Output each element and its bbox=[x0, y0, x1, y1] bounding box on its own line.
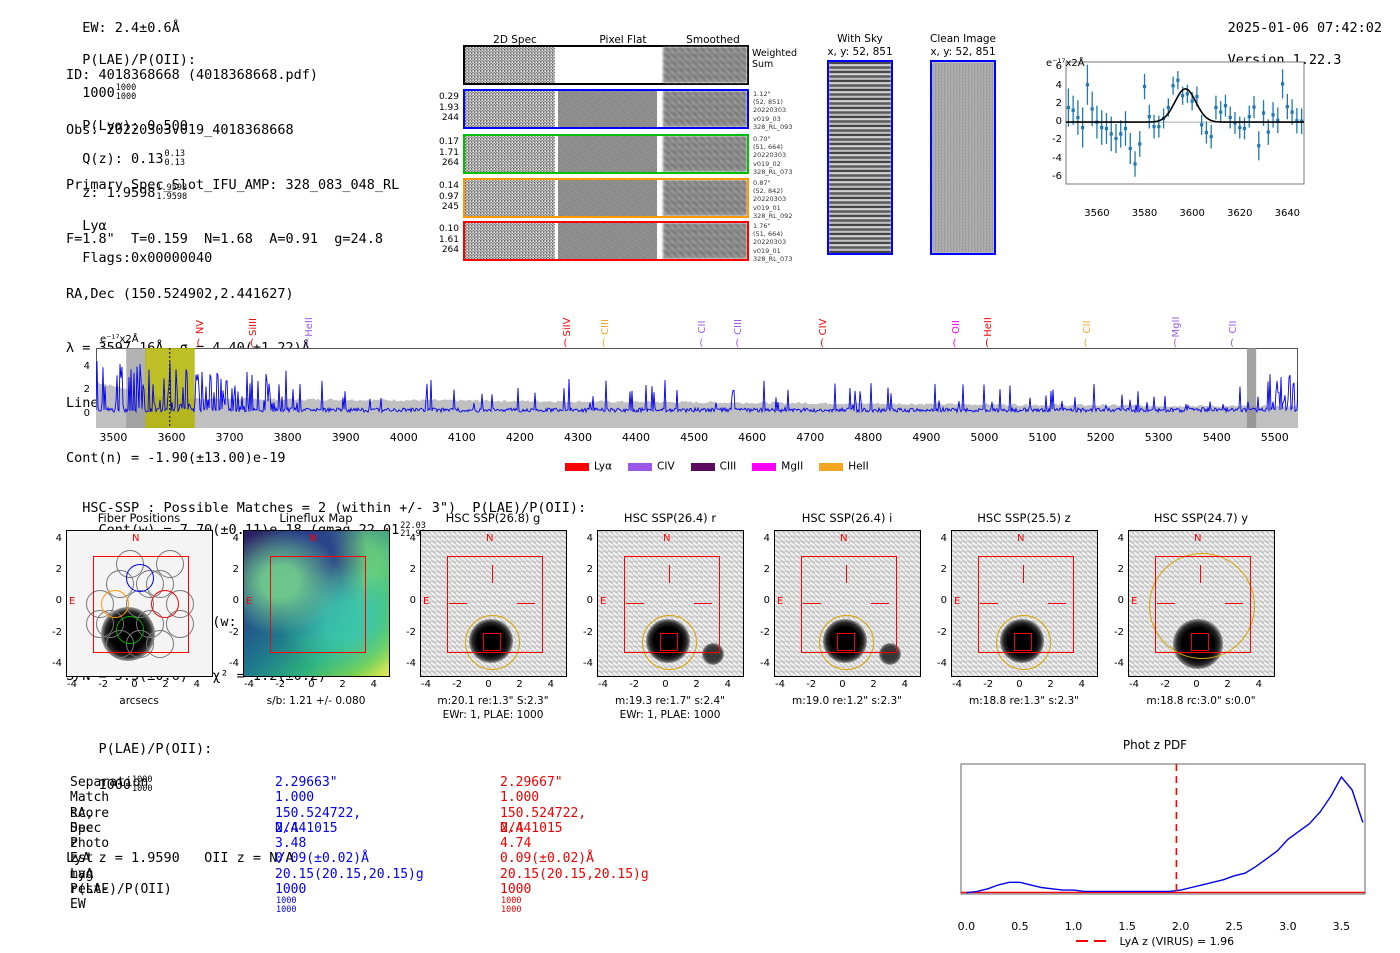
spectrum-xtick: 3900 bbox=[320, 431, 372, 444]
spectrum-line-bracket-icon: ( bbox=[953, 338, 957, 349]
spectrum-line-bracket-icon: ( bbox=[564, 338, 568, 349]
legend-label: MgII bbox=[781, 461, 803, 473]
spectrum-xtick: 4700 bbox=[784, 431, 836, 444]
spectrum-xtick: 3700 bbox=[204, 431, 256, 444]
cutout-xtick: 4 bbox=[533, 679, 569, 690]
cutout-ytick: -2 bbox=[1102, 627, 1124, 638]
crosshair-vertical bbox=[669, 565, 670, 583]
cutout-ytick: -4 bbox=[40, 658, 62, 669]
cutout-ytick: 2 bbox=[748, 564, 770, 575]
line-fit-y-axis: -6-4-20246 bbox=[1040, 56, 1070, 206]
cutout-title-3: HSC SSP(26.4) r bbox=[575, 511, 765, 525]
cutout-ytick: -4 bbox=[1102, 658, 1124, 669]
cutout-ytick: 4 bbox=[1102, 533, 1124, 544]
spectrum-line-bracket-icon: ( bbox=[820, 338, 824, 349]
spectrum-line-label-CIV: CIV bbox=[802, 303, 846, 351]
cutout-subtitle-2-1: EWr: 1, PLAE: 1000 bbox=[398, 709, 588, 721]
crosshair-horizontal bbox=[449, 603, 467, 604]
fiber-strip-meta-1: (51, 664) bbox=[753, 230, 792, 238]
line-fit-xtick: 3560 bbox=[1077, 208, 1117, 219]
with-sky-image bbox=[827, 60, 893, 255]
spectrum-xtick: 4000 bbox=[378, 431, 430, 444]
fiber-strip-meta: 1.76"(51, 664)20220303v019_01328_RL_073 bbox=[753, 222, 792, 263]
table-cell-match2: 100010001000 bbox=[500, 882, 531, 915]
table-cell-match1: 1.000 bbox=[275, 790, 314, 805]
spectrum-xtick: 4200 bbox=[494, 431, 546, 444]
cutout-ytick: 2 bbox=[925, 564, 947, 575]
fov-box bbox=[93, 556, 189, 653]
fiber-strip-meta-0: 1.12" bbox=[753, 90, 792, 98]
cutout-ytick: 4 bbox=[748, 533, 770, 544]
spectrum-xtick: 5500 bbox=[1249, 431, 1301, 444]
crosshair-horizontal bbox=[1225, 603, 1243, 604]
spectrum-xtick: 5200 bbox=[1075, 431, 1127, 444]
crosshair-vertical bbox=[1200, 565, 1201, 583]
table-row-label: P(LAE)/P(OII) bbox=[70, 882, 172, 897]
fiber-strip-stat-2: 264 bbox=[425, 245, 459, 256]
spectrum-xtick: 4300 bbox=[552, 431, 604, 444]
emission-line-fit-svg bbox=[1040, 56, 1308, 206]
line-fit-xtick: 3620 bbox=[1220, 208, 1260, 219]
cutout-ytick: 0 bbox=[748, 595, 770, 606]
fov-box bbox=[447, 556, 543, 653]
fiber-strip-stats: 0.101.61264 bbox=[425, 224, 459, 256]
info-obs: Obs: 20220303v019_4018368668 bbox=[66, 121, 426, 139]
spectrum-xtick: 4600 bbox=[726, 431, 778, 444]
cutout-image-5[interactable] bbox=[951, 530, 1098, 677]
line-fit-xtick: 3580 bbox=[1125, 208, 1165, 219]
fov-box bbox=[624, 556, 720, 653]
spectrum-line-label-CIII: CIII bbox=[584, 303, 628, 351]
cutout-ytick: -4 bbox=[217, 658, 239, 669]
spectrum-line-bracket-icon: ( bbox=[985, 338, 989, 349]
spectrum-line-bracket-icon: ( bbox=[1084, 338, 1088, 349]
phot-z-pdf-svg bbox=[935, 756, 1375, 916]
info-params: F=1.8" T=0.159 N=1.68 A=0.91 g=24.8 bbox=[66, 230, 426, 248]
cutout-image-2[interactable] bbox=[420, 530, 567, 677]
spectrum-line-markers: NV(SiIII(HeII(SiIV(CIII(CII(CIII(CIV(OII… bbox=[96, 305, 1298, 349]
info-id: ID: 4018368668 (4018368668.pdf) bbox=[66, 66, 426, 84]
emission-line-fit-plot bbox=[1040, 56, 1308, 206]
table-cell-match2: 1.000 bbox=[500, 790, 539, 805]
legend-swatch-icon bbox=[691, 463, 715, 471]
cutout-ytick: 2 bbox=[217, 564, 239, 575]
cutout-xtick: 4 bbox=[1064, 679, 1100, 690]
header-timestamp: 2025-01-06 07:42:02 bbox=[1228, 20, 1382, 36]
fiber-strip-image bbox=[463, 134, 749, 174]
table-cell-match1: 0.09(±0.02)Å bbox=[275, 851, 369, 866]
crosshair-vertical bbox=[846, 565, 847, 583]
crosshair-horizontal bbox=[871, 603, 889, 604]
cutout-ytick: 0 bbox=[925, 595, 947, 606]
table-cell-match1: 100010001000 bbox=[275, 882, 306, 915]
line-fit-ytick: 0 bbox=[1040, 116, 1062, 127]
clean-image-coords: x, y: 52, 851 bbox=[920, 46, 1006, 59]
cutout-ytick: 4 bbox=[571, 533, 593, 544]
info-plae: P(LAE)/P(OII): 100010001000 bbox=[66, 722, 426, 813]
line-fit-ytick: 6 bbox=[1040, 61, 1062, 72]
cutout-ytick: 0 bbox=[40, 595, 62, 606]
weighted-sum-line1: Weighted bbox=[752, 48, 797, 59]
fiber-strip-meta-1: (52, 842) bbox=[753, 187, 792, 195]
cutout-ytick: 0 bbox=[571, 595, 593, 606]
cutout-ytick: -2 bbox=[40, 627, 62, 638]
legend-swatch-icon bbox=[565, 463, 589, 471]
table-cell-match2: 20.15(20.15,20.15)g bbox=[500, 867, 649, 882]
legend-label: CIV bbox=[657, 461, 675, 473]
cutout-title-1: Lineflux Map bbox=[221, 511, 411, 525]
compass-east-label: E bbox=[600, 596, 606, 607]
spectrum-xtick: 3600 bbox=[145, 431, 197, 444]
legend-item-MgII: MgII bbox=[752, 456, 803, 475]
weighted-sum-strip bbox=[463, 45, 749, 85]
table-cell-match2: 4.74 bbox=[500, 836, 531, 851]
fiber-strip-meta-4: 328_RL_092 bbox=[753, 212, 792, 220]
line-fit-ytick: -6 bbox=[1040, 171, 1062, 182]
cutout-ytick: 4 bbox=[217, 533, 239, 544]
fiber-strip-stats: 0.291.93244 bbox=[425, 92, 459, 124]
cutout-ytick: 2 bbox=[394, 564, 416, 575]
cutout-ytick: -4 bbox=[571, 658, 593, 669]
spectrum-xtick: 5300 bbox=[1133, 431, 1185, 444]
compass-north-label: N bbox=[840, 533, 847, 544]
fiber-strip-stat-0: 0.14 bbox=[425, 181, 459, 192]
fiber-strip-meta-4: 328_RL_093 bbox=[753, 123, 792, 131]
fiber-strip-meta-1: (51, 664) bbox=[753, 143, 792, 151]
cutout-ytick: 0 bbox=[217, 595, 239, 606]
plae-lo: 1000 bbox=[501, 905, 521, 915]
cutout-xtick: 4 bbox=[887, 679, 923, 690]
spectrum-line-bracket-icon: ( bbox=[197, 338, 201, 349]
table-row-label: Separation bbox=[70, 775, 148, 790]
spectrum-line-label-CII: CII bbox=[1212, 303, 1256, 351]
spectrum-x-axis: 3500360037003800390040004100420043004400… bbox=[96, 431, 1298, 447]
cutout-image-3[interactable] bbox=[597, 530, 744, 677]
spectrum-xtick: 5400 bbox=[1191, 431, 1243, 444]
fiber-strip-meta-0: 0.70" bbox=[753, 135, 792, 143]
legend-swatch-icon bbox=[819, 463, 843, 471]
info-redshifts: LyA z = 1.9590 OII z = N/A bbox=[66, 849, 426, 867]
spectrum-xtick: 5100 bbox=[1017, 431, 1069, 444]
line-fit-ytick: -4 bbox=[1040, 153, 1062, 164]
fiber-strip-meta: 0.70"(51, 664)20220303v019_02328_RL_073 bbox=[753, 135, 792, 176]
compass-north-label: N bbox=[663, 533, 670, 544]
table-cell-match2: 0.09(±0.02)Å bbox=[500, 851, 594, 866]
crosshair-vertical bbox=[492, 565, 493, 583]
phot-z-pdf-title: Phot z PDF bbox=[935, 738, 1375, 752]
spectrum-line-label-MgII: MgII bbox=[1155, 303, 1199, 351]
legend-item-Lyα: Lyα bbox=[565, 456, 612, 475]
spectrum-xtick: 4100 bbox=[436, 431, 488, 444]
phot-z-pdf-panel: Phot z PDF 0.00.51.01.52.02.53.03.5 LyA … bbox=[935, 738, 1375, 948]
spectrum-ytick: 0 bbox=[70, 408, 90, 419]
spectrum-xtick: 4400 bbox=[610, 431, 662, 444]
fiber-strip-stat-2: 245 bbox=[425, 202, 459, 213]
fiber-strip-meta-3: v019_02 bbox=[753, 160, 792, 168]
phot-z-legend-dash-icon bbox=[1076, 936, 1110, 946]
cutout-ytick: -4 bbox=[748, 658, 770, 669]
fiber-strip-meta-2: 20220303 bbox=[753, 151, 792, 159]
cutout-subtitle-3-0: m:19.3 re:1.7" s:2.4" bbox=[575, 695, 765, 707]
legend-item-CIII: CIII bbox=[691, 456, 737, 475]
cutout-title-5: HSC SSP(25.5) z bbox=[929, 511, 1119, 525]
detection-info-block: ID: 4018368668 (4018368668.pdf) Obs: 202… bbox=[66, 30, 426, 886]
phot-z-legend: LyA z (VIRUS) = 1.96 bbox=[935, 930, 1375, 949]
full-spectrum-plot bbox=[96, 348, 1298, 428]
spectrum-line-label-CIII: CIII bbox=[717, 303, 761, 351]
cutout-ytick: -2 bbox=[571, 627, 593, 638]
crosshair-horizontal bbox=[980, 603, 998, 604]
spectrum-y-axis: 024 bbox=[70, 348, 94, 428]
compass-east-label: E bbox=[777, 596, 783, 607]
fiber-strip-meta-3: v019_01 bbox=[753, 247, 792, 255]
legend-item-HeII: HeII bbox=[819, 456, 869, 475]
crosshair-vertical bbox=[1023, 565, 1024, 583]
weighted-sum-label: Weighted Sum bbox=[752, 48, 797, 70]
fov-box bbox=[978, 556, 1074, 653]
cutout-subtitle-1-0: s/b: 1.21 +/- 0.080 bbox=[221, 695, 411, 707]
crosshair-horizontal bbox=[694, 603, 712, 604]
cutout-subtitle-3-1: EWr: 1, PLAE: 1000 bbox=[575, 709, 765, 721]
spectrum-xtick: 3800 bbox=[262, 431, 314, 444]
spectrum-line-label-HeII: HeII bbox=[967, 303, 1011, 351]
fiber-strip-meta-3: v019_01 bbox=[753, 204, 792, 212]
cutout-image-0[interactable] bbox=[66, 530, 213, 677]
spectrum-xtick: 4500 bbox=[668, 431, 720, 444]
legend-label: HeII bbox=[848, 461, 869, 473]
compass-north-label: N bbox=[309, 533, 316, 544]
fov-box bbox=[1155, 556, 1251, 653]
legend-label: CIII bbox=[720, 461, 737, 473]
cutout-subtitle-5-0: m:18.8 re:1.3" s:2.3" bbox=[929, 695, 1119, 707]
line-fit-xtick: 3600 bbox=[1172, 208, 1212, 219]
crosshair-horizontal bbox=[626, 603, 644, 604]
table-cell-match1: 2.29663" bbox=[275, 775, 338, 790]
line-fit-ytick: -2 bbox=[1040, 134, 1062, 145]
table-cell-match2: N/A bbox=[500, 821, 523, 836]
cutout-ytick: 2 bbox=[571, 564, 593, 575]
info-plae-label: P(LAE)/P(OII): bbox=[99, 741, 213, 757]
cutout-subtitle-2-0: m:20.1 re:1.3" S:2.3" bbox=[398, 695, 588, 707]
cutout-xtick: 4 bbox=[1241, 679, 1277, 690]
spectrum-xtick: 5000 bbox=[958, 431, 1010, 444]
fov-box bbox=[270, 556, 366, 653]
legend-item-CIV: CIV bbox=[628, 456, 675, 475]
fiber-strip-meta-2: 20220303 bbox=[753, 238, 792, 246]
plae-lo: 1000 bbox=[276, 905, 296, 915]
phot-z-legend-label: LyA z (VIRUS) = 1.96 bbox=[1119, 935, 1234, 948]
fiber-strip-stats: 0.171.71264 bbox=[425, 137, 459, 169]
fiber-strip-meta-4: 328_RL_073 bbox=[753, 168, 792, 176]
spectrum-line-label-NV: NV bbox=[179, 303, 223, 351]
fiber-strip-stat-2: 244 bbox=[425, 113, 459, 124]
compass-east-label: E bbox=[954, 596, 960, 607]
table-cell-match1: 3.48 bbox=[275, 836, 306, 851]
spectrum-line-label-SiIII: SiIII bbox=[232, 303, 276, 351]
cutout-ytick: -2 bbox=[394, 627, 416, 638]
legend-swatch-icon bbox=[752, 463, 776, 471]
spectrum-xtick: 4800 bbox=[842, 431, 894, 444]
table-cell-match1: 20.15(20.15,20.15)g bbox=[275, 867, 424, 882]
table-row-label: mag bbox=[70, 867, 93, 882]
cutout-xtick: 4 bbox=[179, 679, 215, 690]
crosshair-horizontal bbox=[1157, 603, 1175, 604]
line-fit-ytick: 4 bbox=[1040, 80, 1062, 91]
cutout-xtick: 4 bbox=[356, 679, 392, 690]
fiber-strip-stat-0: 0.10 bbox=[425, 224, 459, 235]
compass-north-label: N bbox=[132, 533, 139, 544]
clean-image-title: Clean Image x, y: 52, 851 bbox=[920, 33, 1006, 58]
cutout-subtitle-6-0: m:18.8 rc:3.0" s:0.0" bbox=[1106, 695, 1296, 707]
fiber-strip-stat-0: 0.29 bbox=[425, 92, 459, 103]
fiber-strip-meta-3: v019_03 bbox=[753, 115, 792, 123]
compass-east-label: E bbox=[69, 596, 75, 607]
spectrum-ytick: 2 bbox=[70, 384, 90, 395]
full-spectrum-svg bbox=[96, 348, 1298, 428]
compass-north-label: N bbox=[486, 533, 493, 544]
legend-swatch-icon bbox=[628, 463, 652, 471]
weighted-sum-line2: Sum bbox=[752, 59, 797, 70]
spectrum-line-bracket-icon: ( bbox=[1173, 338, 1177, 349]
info-radec: RA,Dec (150.524902,2.441627) bbox=[66, 285, 426, 303]
clean-image-title-text: Clean Image bbox=[920, 33, 1006, 46]
info-primary-spec: Primary Spec_Slot_IFU_AMP: 328_083_048_R… bbox=[66, 176, 426, 194]
fiber-strip-meta-4: 328_RL_073 bbox=[753, 255, 792, 263]
line-fit-xtick: 3640 bbox=[1267, 208, 1307, 219]
compass-north-label: N bbox=[1194, 533, 1201, 544]
compass-east-label: E bbox=[246, 596, 252, 607]
fiber-strip-meta: 0.87"(52, 842)20220303v019_01328_RL_092 bbox=[753, 179, 792, 220]
line-fit-x-axis: 35603580360036203640 bbox=[1040, 208, 1308, 224]
cutout-ytick: -2 bbox=[748, 627, 770, 638]
fiber-strip-meta-0: 1.76" bbox=[753, 222, 792, 230]
info-cont-n: Cont(n) = -1.90(±13.00)e-19 bbox=[66, 449, 426, 467]
fiber-strip-stat-1: 1.71 bbox=[425, 148, 459, 159]
cutout-image-6[interactable] bbox=[1128, 530, 1275, 677]
cutout-ytick: -2 bbox=[925, 627, 947, 638]
fiber-strip-stat-0: 0.17 bbox=[425, 137, 459, 148]
spectrum-line-label-SiIV: SiIV bbox=[546, 303, 590, 351]
cutout-image-1[interactable] bbox=[243, 530, 390, 677]
compass-east-label: E bbox=[1131, 596, 1137, 607]
spectrum-line-bracket-icon: ( bbox=[735, 338, 739, 349]
fiber-strip-stat-1: 0.97 bbox=[425, 192, 459, 203]
cutout-image-4[interactable] bbox=[774, 530, 921, 677]
line-fit-ytick: 2 bbox=[1040, 98, 1062, 109]
spectrum-line-bracket-icon: ( bbox=[1230, 338, 1234, 349]
crosshair-horizontal bbox=[517, 603, 535, 604]
compass-north-label: N bbox=[1017, 533, 1024, 544]
fiber-strip-meta: 1.12"(52, 851)20220303v019_03328_RL_093 bbox=[753, 90, 792, 131]
with-sky-title: With Sky x, y: 52, 851 bbox=[820, 33, 900, 58]
spectrum-line-label-CII: CII bbox=[1066, 303, 1110, 351]
fiber-strip-meta-0: 0.87" bbox=[753, 179, 792, 187]
with-sky-title-text: With Sky bbox=[820, 33, 900, 46]
table-cell-match2: 2.29667" bbox=[500, 775, 563, 790]
fiber-strip-image bbox=[463, 178, 749, 218]
compass-east-label: E bbox=[423, 596, 429, 607]
spectrum-line-bracket-icon: ( bbox=[602, 338, 606, 349]
fiber-strip-stat-2: 264 bbox=[425, 158, 459, 169]
with-sky-coords: x, y: 52, 851 bbox=[820, 46, 900, 59]
spectrum-ytick: 4 bbox=[70, 361, 90, 372]
cutout-title-2: HSC SSP(26.8) g bbox=[398, 511, 588, 525]
cutout-title-0: Fiber Positions bbox=[44, 511, 234, 525]
clean-image bbox=[930, 60, 996, 255]
cutout-ytick: 2 bbox=[1102, 564, 1124, 575]
fiber-strip-meta-2: 20220303 bbox=[753, 106, 792, 114]
cutout-ytick: -2 bbox=[217, 627, 239, 638]
fov-box bbox=[801, 556, 897, 653]
fiber-strip-stat-1: 1.93 bbox=[425, 103, 459, 114]
cutout-title-6: HSC SSP(24.7) y bbox=[1106, 511, 1296, 525]
crosshair-horizontal bbox=[803, 603, 821, 604]
cutout-ytick: 0 bbox=[394, 595, 416, 606]
cutout-ytick: -4 bbox=[394, 658, 416, 669]
cutout-ytick: 4 bbox=[40, 533, 62, 544]
fiber-strip-image bbox=[463, 221, 749, 261]
cutout-ytick: 0 bbox=[1102, 595, 1124, 606]
spectrum-xtick: 4900 bbox=[900, 431, 952, 444]
cutout-ytick: -4 bbox=[925, 658, 947, 669]
spectrum-line-bracket-icon: ( bbox=[306, 338, 310, 349]
fiber-strip-image bbox=[463, 89, 749, 129]
spectrum-legend: LyαCIVCIIIMgIIHeII bbox=[565, 456, 885, 475]
table-cell-match1: N/A bbox=[275, 821, 298, 836]
cutout-xtick: 4 bbox=[710, 679, 746, 690]
fiber-strip-meta-1: (52, 851) bbox=[753, 98, 792, 106]
fiber-strip-stats: 0.140.97245 bbox=[425, 181, 459, 213]
spectrum-line-label-HeII: HeII bbox=[288, 303, 332, 351]
fiber-strip-stat-1: 1.61 bbox=[425, 235, 459, 246]
legend-label: Lyα bbox=[594, 461, 612, 473]
cutout-ytick: 4 bbox=[394, 533, 416, 544]
cutout-subtitle-0-0: arcsecs bbox=[44, 695, 234, 707]
cutout-ytick: 4 bbox=[925, 533, 947, 544]
fiber-strip-meta-2: 20220303 bbox=[753, 195, 792, 203]
cutout-subtitle-4-0: m:19.0 re:1.2" s:2.3" bbox=[752, 695, 942, 707]
spectrum-line-bracket-icon: ( bbox=[250, 338, 254, 349]
crosshair-horizontal bbox=[1048, 603, 1066, 604]
cutout-ytick: 2 bbox=[40, 564, 62, 575]
spectrum-line-bracket-icon: ( bbox=[699, 338, 703, 349]
spectrum-xtick: 3500 bbox=[87, 431, 139, 444]
cutout-title-4: HSC SSP(26.4) i bbox=[752, 511, 942, 525]
